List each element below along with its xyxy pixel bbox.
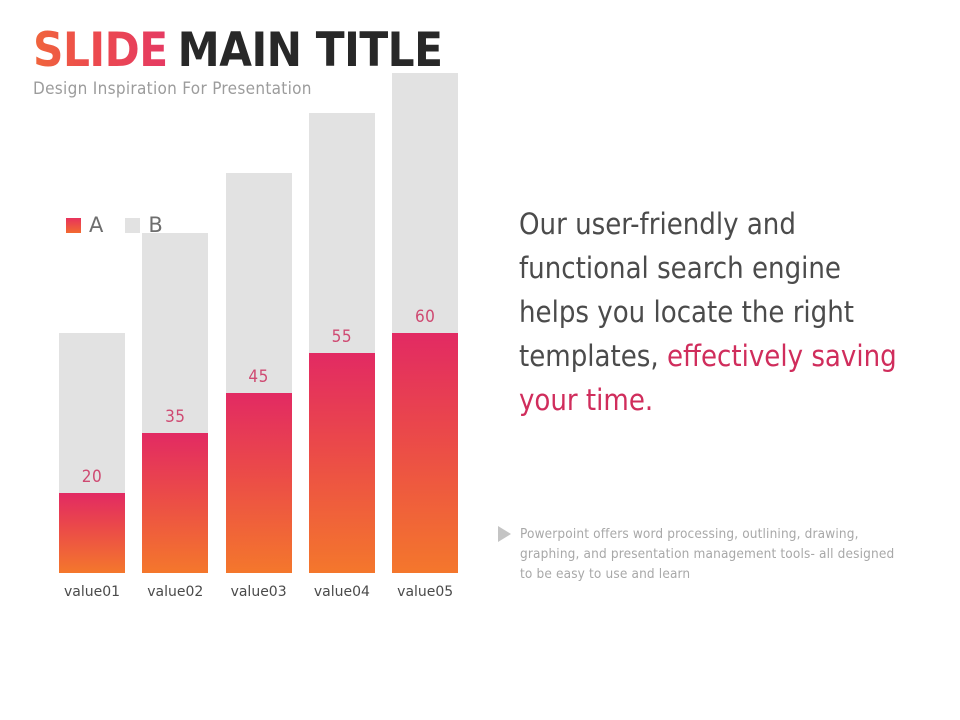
bar-category-label: value03	[216, 584, 302, 600]
bar-value-label: 20	[59, 467, 125, 487]
bar-stack: 55	[309, 113, 375, 573]
bar-stack: 45	[226, 173, 292, 573]
bar-segment-b[interactable]	[392, 73, 458, 333]
triangle-bullet-icon	[498, 526, 511, 542]
bar-category-label: value01	[49, 584, 135, 600]
bar-group[interactable]: 35value02	[142, 20, 208, 620]
bar-segment-b[interactable]	[226, 173, 292, 393]
bar-segment-a[interactable]	[59, 493, 125, 573]
bar-value-label: 60	[392, 307, 458, 327]
bar-segment-a[interactable]	[309, 353, 375, 573]
headline-paragraph: Our user-friendly and functional search …	[519, 202, 919, 422]
footnote-text: Powerpoint offers word processing, outli…	[520, 524, 898, 584]
bar-group[interactable]: 55value04	[309, 20, 375, 620]
bar-group[interactable]: 20value01	[59, 20, 125, 620]
bar-group[interactable]: 45value03	[226, 20, 292, 620]
bar-segment-b[interactable]	[309, 113, 375, 353]
bar-stack: 20	[59, 333, 125, 573]
bar-stack: 35	[142, 233, 208, 573]
bar-stack: 60	[392, 73, 458, 573]
bar-segment-b[interactable]	[142, 233, 208, 433]
chart-plot-area: 20value0135value0245value0355value0460va…	[0, 0, 500, 620]
bar-value-label: 55	[309, 327, 375, 347]
bar-category-label: value05	[382, 584, 468, 600]
bar-category-label: value04	[299, 584, 385, 600]
stacked-bar-chart: A B 20value0135value0245value0355value04…	[0, 0, 500, 620]
bar-value-label: 35	[142, 407, 208, 427]
footnote-block: Powerpoint offers word processing, outli…	[498, 524, 898, 584]
bar-segment-a[interactable]	[392, 333, 458, 573]
bar-segment-a[interactable]	[142, 433, 208, 573]
bar-category-label: value02	[132, 584, 218, 600]
bar-segment-a[interactable]	[226, 393, 292, 573]
copy-block: Our user-friendly and functional search …	[519, 202, 919, 422]
bar-value-label: 45	[226, 367, 292, 387]
bar-group[interactable]: 60value05	[392, 20, 458, 620]
